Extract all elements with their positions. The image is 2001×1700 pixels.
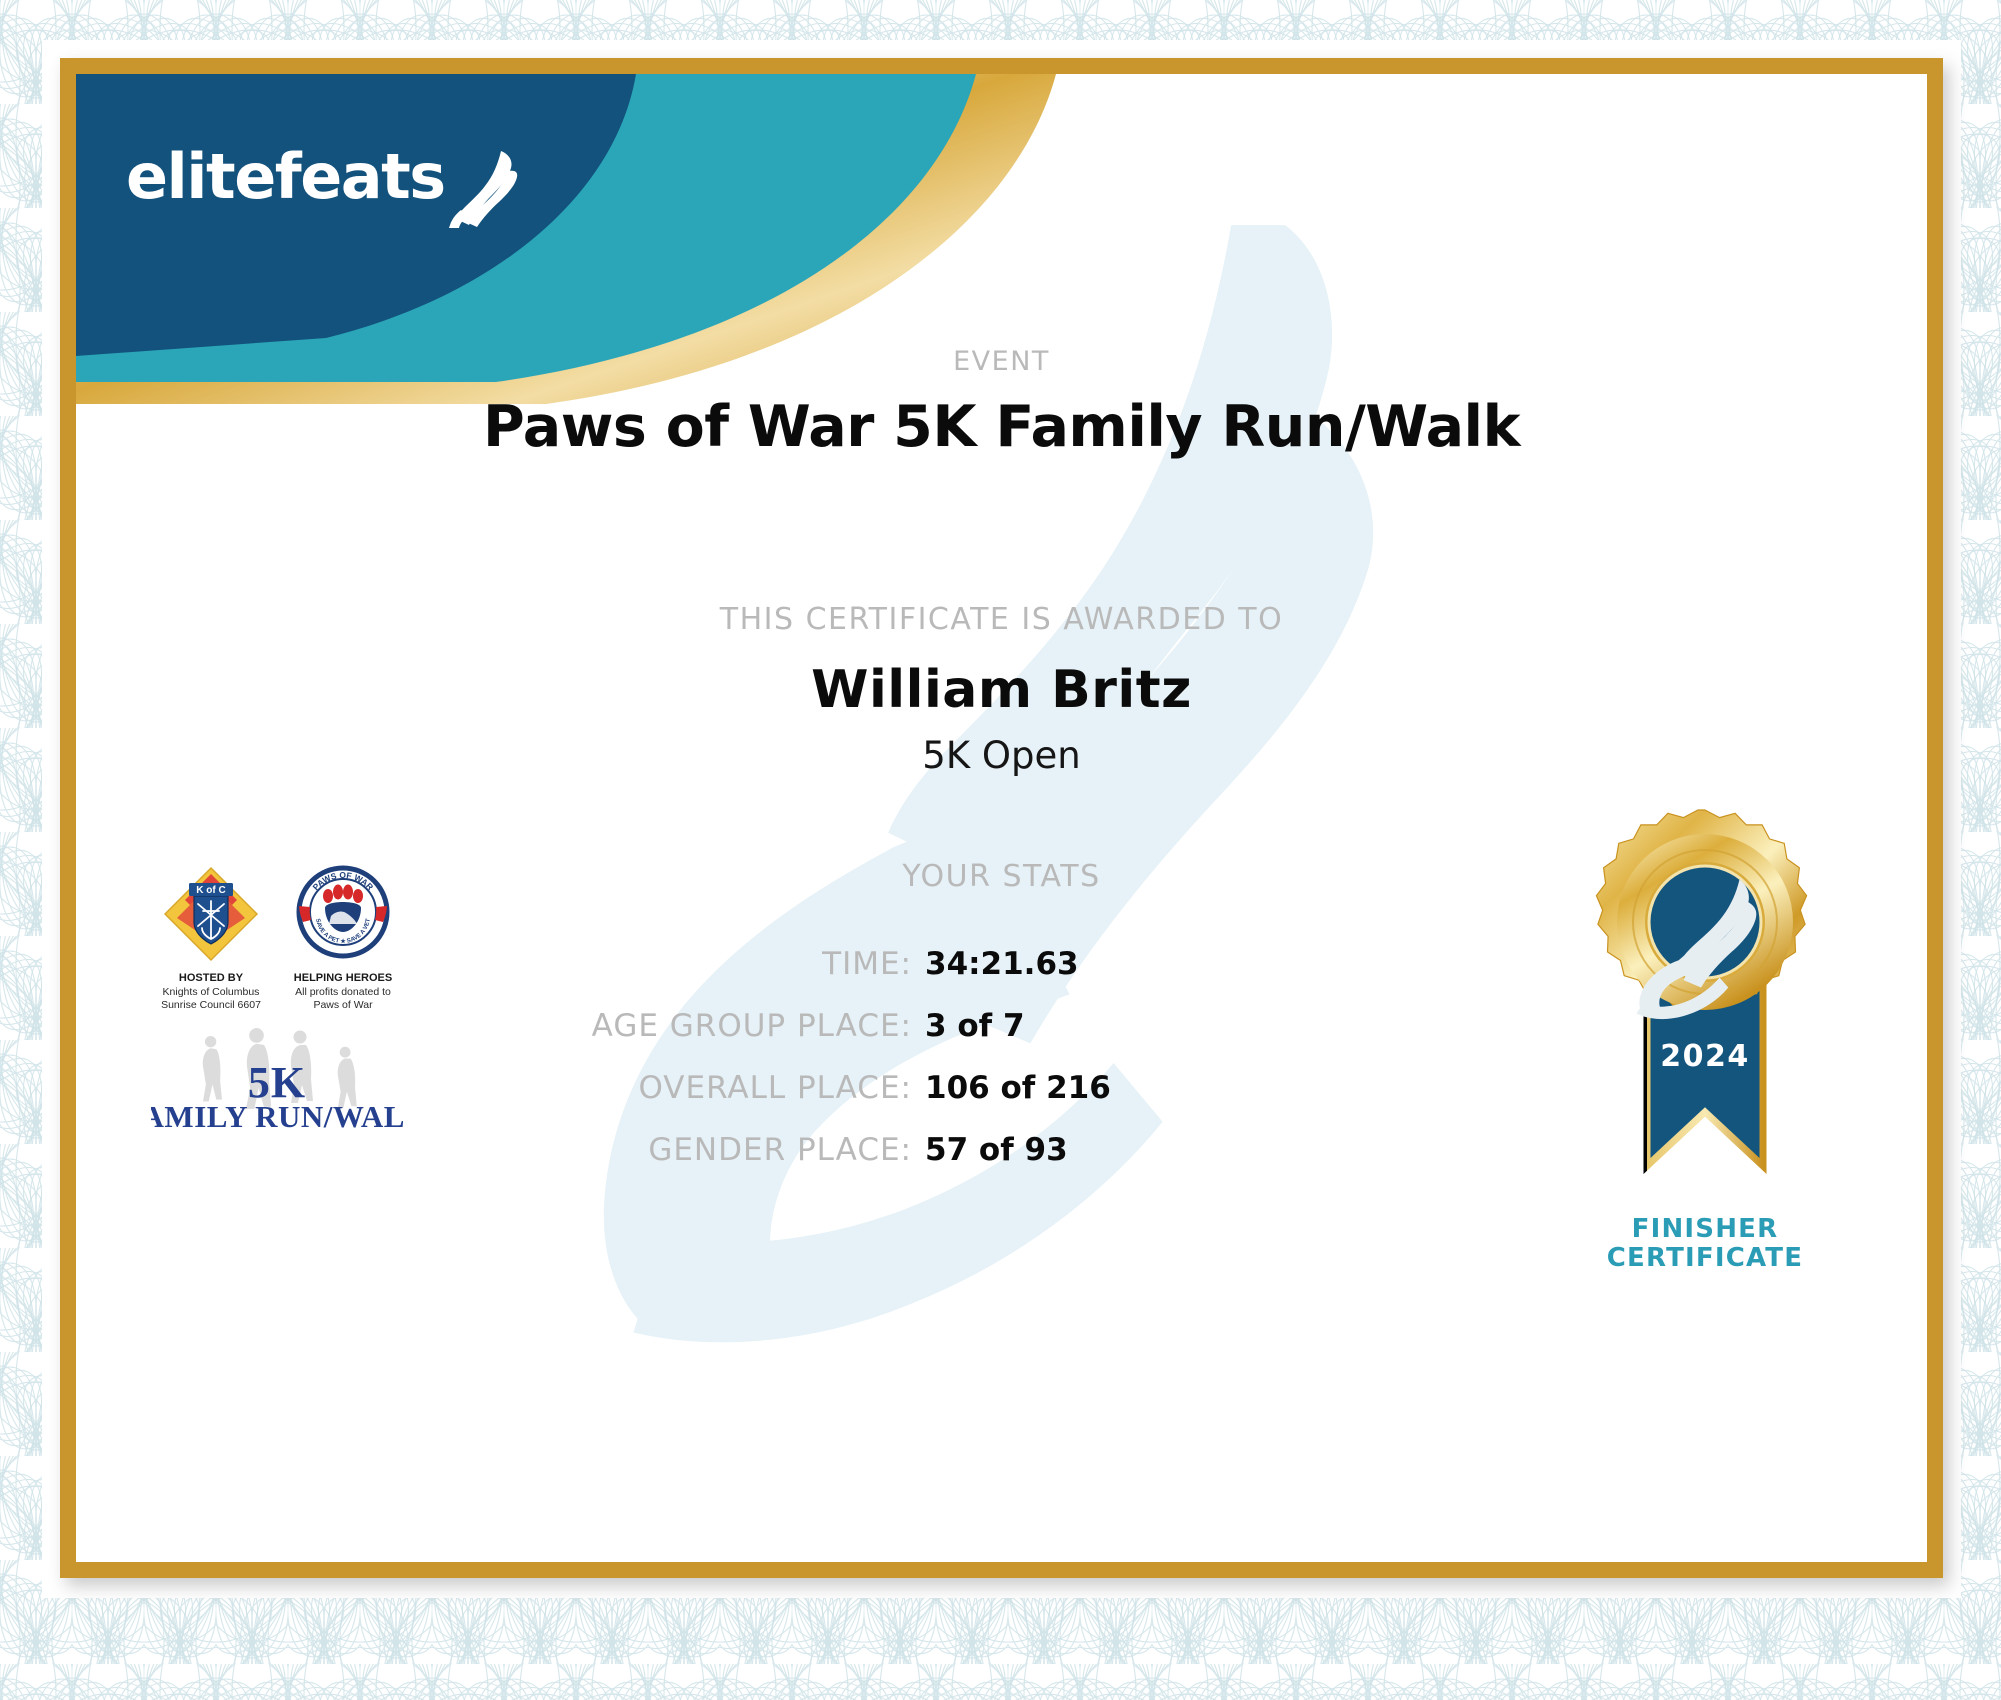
- event-name: Paws of War 5K Family Run/Walk: [76, 394, 1927, 460]
- brand-wordmark: elitefeats: [126, 146, 445, 208]
- medal-caption-line-1: FINISHER: [1555, 1215, 1855, 1244]
- sponsor-heading: HOSTED BY: [151, 972, 271, 986]
- event-logo: 5K FAMILY RUN/WALK 5K FAMILY RUN/WALK: [151, 1027, 403, 1136]
- stat-value: 106 of 216: [912, 1070, 1111, 1106]
- stat-value: 3 of 7: [912, 1008, 1025, 1044]
- stat-value: 57 of 93: [912, 1132, 1068, 1168]
- svg-text:FAMILY RUN/WALK: FAMILY RUN/WALK: [151, 1099, 403, 1131]
- awarded-to-label: THIS CERTIFICATE IS AWARDED TO: [76, 602, 1927, 637]
- recipient-name: William Britz: [76, 660, 1927, 720]
- sponsor-line-2: Paws of War: [283, 999, 403, 1013]
- certificate-frame: elitefeats EVENT Paws of War 5K Family R…: [60, 58, 1943, 1578]
- sponsor-paws-of-war: PAWS OF WAR SAVE A PET ★ SAVE A VET HELP…: [283, 864, 403, 1013]
- gold-rosette-medal-icon: 2024: [1565, 804, 1845, 1204]
- medal-caption: FINISHER CERTIFICATE: [1555, 1215, 1855, 1273]
- sponsor-cluster: K of C HOSTED BY Knights of Columbus Sun…: [151, 864, 471, 1136]
- knights-of-columbus-emblem-icon: K of C: [159, 864, 263, 964]
- sponsor-heading: HELPING HEROES: [283, 972, 403, 986]
- medal-year-text: 2024: [1660, 1039, 1750, 1074]
- sponsor-line-1: All profits donated to: [283, 986, 403, 1000]
- sponsor-knights-of-columbus: K of C HOSTED BY Knights of Columbus Sun…: [151, 864, 271, 1013]
- paws-of-war-seal-icon: PAWS OF WAR SAVE A PET ★ SAVE A VET: [291, 864, 395, 964]
- brand-logo: elitefeats: [126, 146, 519, 208]
- winged-foot-icon: [447, 148, 519, 228]
- event-label: EVENT: [76, 346, 1927, 377]
- sponsor-line-1: Knights of Columbus: [151, 986, 271, 1000]
- sponsor-row: K of C HOSTED BY Knights of Columbus Sun…: [151, 864, 471, 1013]
- stat-value: 34:21.63: [912, 946, 1079, 982]
- sponsor-line-2: Sunrise Council 6607: [151, 999, 271, 1013]
- family-run-walk-logo-icon: 5K FAMILY RUN/WALK: [151, 1027, 403, 1131]
- medal-caption-line-2: CERTIFICATE: [1555, 1244, 1855, 1273]
- certificate-body: elitefeats EVENT Paws of War 5K Family R…: [76, 74, 1927, 1562]
- svg-text:K of C: K of C: [196, 885, 225, 896]
- stat-key: GENDER PLACE:: [76, 1132, 912, 1168]
- finisher-medal: 2024: [1555, 804, 1855, 1273]
- recipient-division: 5K Open: [76, 734, 1927, 777]
